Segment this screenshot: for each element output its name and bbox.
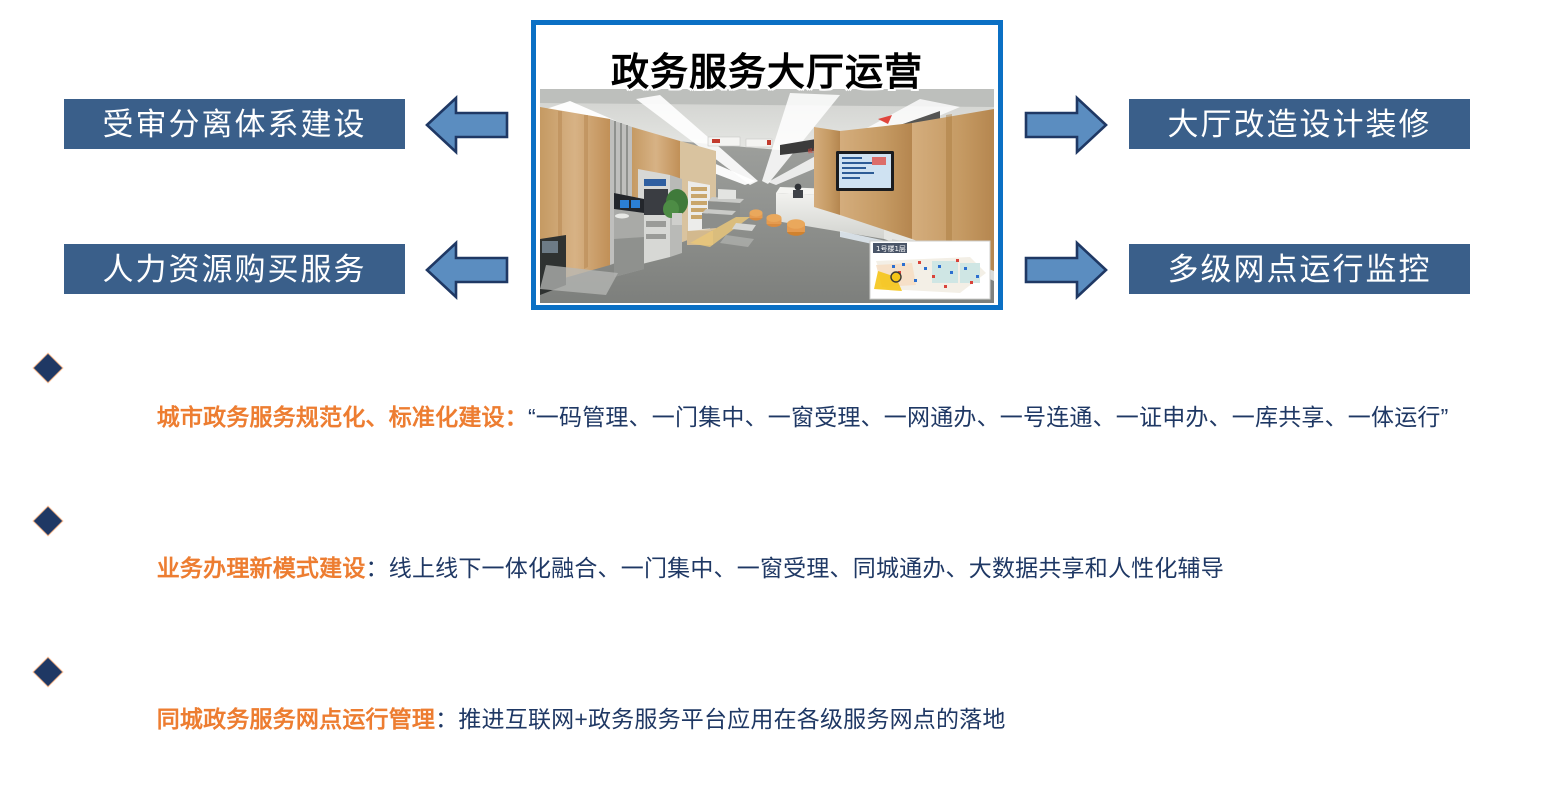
feature-box-dating-gaizao[interactable]: 大厅改造设计装修 (1129, 99, 1470, 149)
feature-box-renli-ziyuan[interactable]: 人力资源购买服务 (64, 244, 405, 294)
bullet-body: ：推进互联网+政务服务平台应用在各级服务网点的落地 (435, 706, 1005, 732)
feature-box-label: 多级网点运行监控 (1168, 254, 1432, 285)
diamond-bullet-icon (34, 354, 62, 382)
bullet-heading: 城市政务服务规范化、标准化建设： (157, 404, 528, 430)
list-item: 同城政务服务网点运行管理：推进互联网+政务服务平台应用在各级服务网点的落地 (30, 646, 1530, 793)
arrow-right-icon (1023, 94, 1109, 156)
svg-text:1号楼1层: 1号楼1层 (876, 244, 906, 253)
service-hall-photo: 服务窗口 BD001-A05 (540, 89, 994, 303)
feature-box-label: 受审分离体系建设 (103, 109, 367, 140)
center-picture-frame: 政务服务大厅运营 (531, 20, 1003, 310)
bullet-list: 城市政务服务规范化、标准化建设：“一码管理、一门集中、一窗受理、一网通办、一号连… (30, 344, 1530, 785)
bullet-text: 业务办理新模式建设：线上线下一体化融合、一门集中、一窗受理、同城通办、大数据共享… (104, 495, 1530, 642)
arrow-left-icon (424, 239, 510, 301)
list-item: 业务办理新模式建设：线上线下一体化融合、一门集中、一窗受理、同城通办、大数据共享… (30, 495, 1530, 642)
slide-canvas: 受审分离体系建设 人力资源购买服务 大厅改造设计装修 多级网点运行监控 政务服务… (0, 0, 1551, 582)
feature-box-label: 大厅改造设计装修 (1168, 109, 1432, 140)
diamond-bullet-icon (34, 507, 62, 535)
feature-box-label: 人力资源购买服务 (103, 254, 367, 285)
feature-box-shen-fen-li[interactable]: 受审分离体系建设 (64, 99, 405, 149)
list-item: 城市政务服务规范化、标准化建设：“一码管理、一门集中、一窗受理、一网通办、一号连… (30, 344, 1530, 491)
picture-title: 政务服务大厅运营 (536, 41, 998, 96)
bullet-text: 城市政务服务规范化、标准化建设：“一码管理、一门集中、一窗受理、一网通办、一号连… (104, 344, 1530, 491)
bullet-body: ：线上线下一体化融合、一门集中、一窗受理、同城通办、大数据共享和人性化辅导 (366, 555, 1224, 581)
bullet-body: “一码管理、一门集中、一窗受理、一网通办、一号连通、一证申办、一库共享、一体运行… (528, 404, 1449, 430)
feature-box-duoji-wangdian[interactable]: 多级网点运行监控 (1129, 244, 1470, 294)
bullet-heading: 业务办理新模式建设 (157, 555, 366, 581)
bullet-heading: 同城政务服务网点运行管理 (157, 706, 435, 732)
diamond-bullet-icon (34, 658, 62, 686)
arrow-left-icon (424, 94, 510, 156)
bullet-text: 同城政务服务网点运行管理：推进互联网+政务服务平台应用在各级服务网点的落地 (104, 646, 1530, 793)
arrow-right-icon (1023, 239, 1109, 301)
